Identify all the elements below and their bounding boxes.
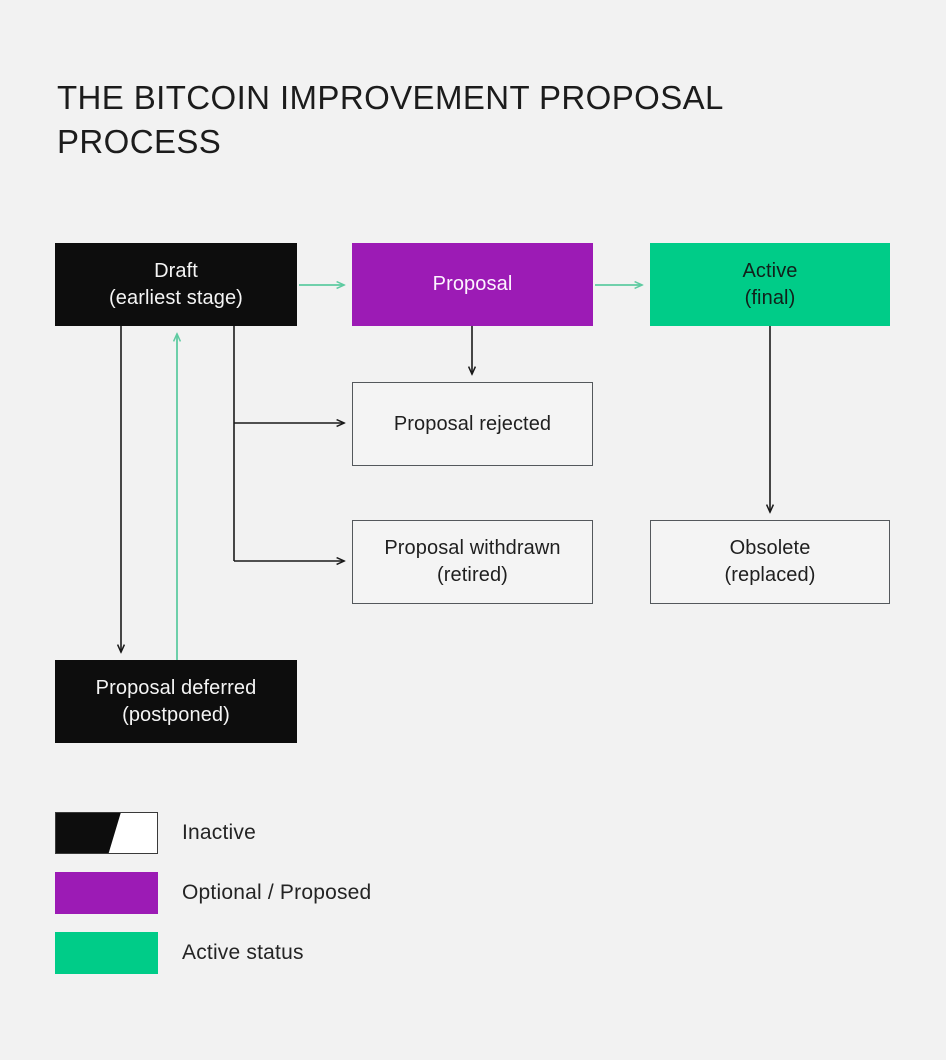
legend-item-active: Active status <box>55 931 485 975</box>
node-active-line2: (final) <box>745 285 796 312</box>
legend-label-active: Active status <box>182 940 304 966</box>
node-proposal-withdrawn[interactable]: Proposal withdrawn (retired) <box>352 520 593 604</box>
node-obsolete-line1: Obsolete <box>730 535 811 562</box>
node-proposal-withdrawn-line2: (retired) <box>437 562 508 589</box>
legend-swatch-inactive <box>55 812 158 854</box>
node-draft[interactable]: Draft (earliest stage) <box>55 243 297 326</box>
node-proposal[interactable]: Proposal <box>352 243 593 326</box>
node-proposal-deferred-line1: Proposal deferred <box>96 675 257 702</box>
node-active-line1: Active <box>742 258 797 285</box>
node-obsolete[interactable]: Obsolete (replaced) <box>650 520 890 604</box>
node-draft-line2: (earliest stage) <box>109 285 243 312</box>
legend-swatch-optional <box>55 872 158 914</box>
node-proposal-deferred-line2: (postponed) <box>122 702 230 729</box>
node-proposal-rejected[interactable]: Proposal rejected <box>352 382 593 466</box>
legend-item-optional: Optional / Proposed <box>55 871 485 915</box>
node-proposal-withdrawn-line1: Proposal withdrawn <box>384 535 560 562</box>
node-obsolete-line2: (replaced) <box>724 562 815 589</box>
page-title: THE BITCOIN IMPROVEMENT PROPOSAL PROCESS <box>57 76 797 164</box>
node-proposal-deferred[interactable]: Proposal deferred (postponed) <box>55 660 297 743</box>
legend-item-inactive: Inactive <box>55 811 485 855</box>
node-proposal-line1: Proposal <box>433 271 513 298</box>
legend-swatch-active <box>55 932 158 974</box>
legend: Inactive Optional / Proposed Active stat… <box>55 811 485 975</box>
node-proposal-rejected-line1: Proposal rejected <box>394 411 551 438</box>
legend-label-inactive: Inactive <box>182 820 256 846</box>
node-active[interactable]: Active (final) <box>650 243 890 326</box>
legend-label-optional: Optional / Proposed <box>182 880 371 906</box>
node-draft-line1: Draft <box>154 258 198 285</box>
